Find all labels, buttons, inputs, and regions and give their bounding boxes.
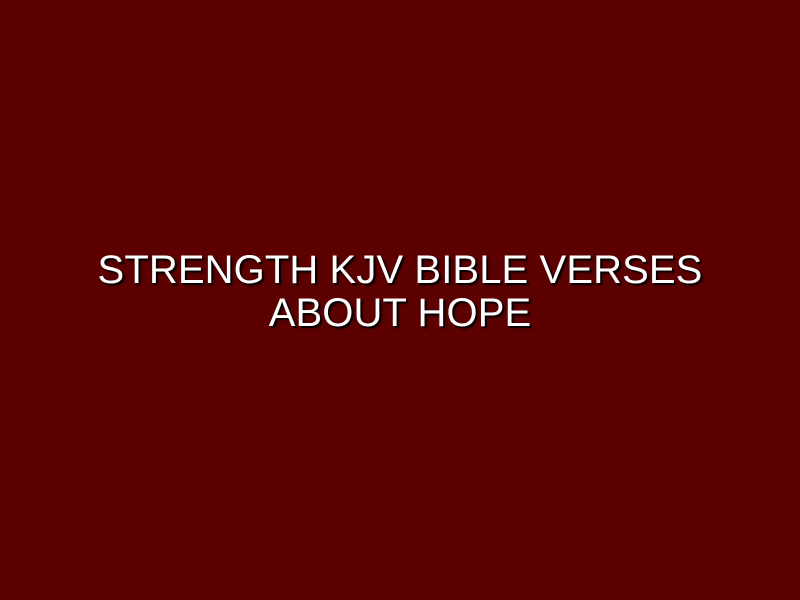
page-title: STRENGTH KJV BIBLE VERSES ABOUT HOPE <box>80 249 720 335</box>
title-block: STRENGTH KJV BIBLE VERSES ABOUT HOPE <box>80 249 720 335</box>
featured-image-card: STRENGTH KJV BIBLE VERSES ABOUT HOPE <box>0 0 800 600</box>
